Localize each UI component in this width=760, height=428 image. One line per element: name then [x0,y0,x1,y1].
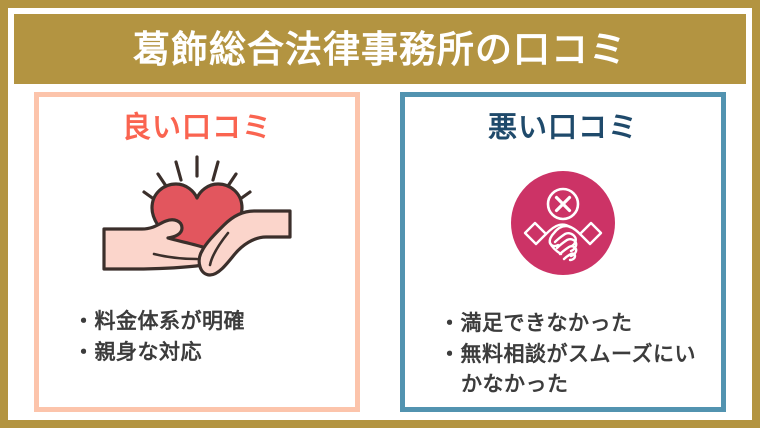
list-item: ・親身な対応 [73,338,345,369]
title-banner: 葛飾総合法律事務所の口コミ [14,14,746,84]
infographic-canvas: 葛飾総合法律事務所の口コミ 良い口コミ [0,0,760,428]
hands-holding-heart-icon [102,151,292,285]
list-item: ・料金体系が明確 [73,307,345,338]
panel-heading-good: 良い口コミ [122,113,272,145]
handshake-rejected-icon [511,171,615,275]
bullet-list-bad: ・満足できなかった ・無料相談がスムーズにいかなかった [405,309,721,401]
panel-good-reviews: 良い口コミ [34,92,360,412]
panel-bad-reviews: 悪い口コミ [400,92,726,412]
illustration-good [39,151,355,285]
panel-heading-bad: 悪い口コミ [488,113,638,145]
illustration-bad [405,163,721,283]
bullet-list-good: ・料金体系が明確 ・親身な対応 [39,307,355,368]
list-item: ・満足できなかった [439,309,711,340]
list-item: ・無料相談がスムーズにいかなかった [439,340,711,401]
page-title: 葛飾総合法律事務所の口コミ [133,31,627,68]
